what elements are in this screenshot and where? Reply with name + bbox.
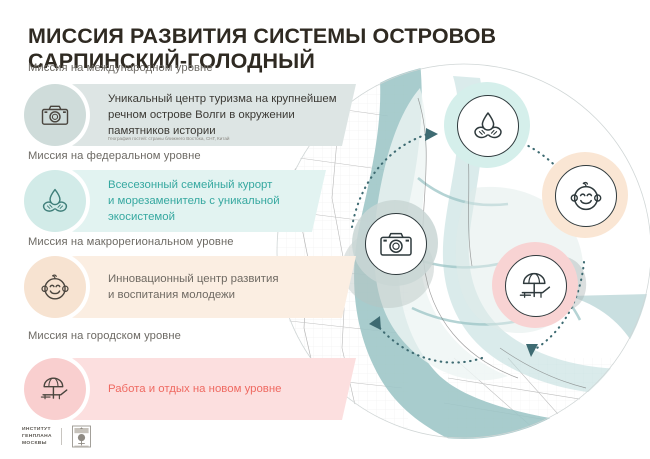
camera-icon	[40, 102, 70, 128]
mission-card-leisure-icon-badge	[24, 358, 86, 420]
node-youth-ring[interactable]	[555, 165, 617, 227]
mission-card-tourism-icon-badge	[24, 84, 86, 146]
mission-card-resort[interactable]: Всесезонный семейный курорт и морезамени…	[24, 170, 354, 232]
mission-card-resort-icon-badge	[24, 170, 86, 232]
water-drop-hands-icon	[471, 109, 505, 143]
institute-logo-line2: Генплана	[22, 433, 52, 440]
mission-card-youth-line-2: и воспитания молодежи	[108, 287, 348, 303]
mission-card-resort-line-1: Всесезонный семейный курорт	[108, 177, 348, 193]
level-label-federal: Миссия на федеральном уровне	[28, 150, 201, 162]
page-title-line1: Миссия развития системы островов	[28, 24, 496, 48]
mission-card-resort-line-2: и морезаменитель с уникальной	[108, 193, 348, 209]
camera-icon	[378, 229, 414, 259]
mission-card-resort-text: Всесезонный семейный курорт и морезамени…	[108, 170, 348, 232]
node-tourism[interactable]	[352, 200, 438, 286]
node-youth[interactable]	[542, 152, 628, 238]
level-label-city: Миссия на городском уровне	[28, 330, 181, 342]
node-resort[interactable]	[444, 82, 530, 168]
level-label-international: Миссия на международном уровне	[28, 62, 213, 74]
water-drop-hands-icon	[40, 186, 70, 216]
baby-face-icon	[39, 272, 71, 302]
baby-face-icon	[568, 179, 604, 213]
node-resort-ring[interactable]	[457, 95, 519, 157]
mission-card-youth-text: Инновационный центр развития и воспитани…	[108, 256, 348, 318]
footer-logo: Институт Генплана Москвы	[22, 424, 92, 449]
mission-card-youth-icon-badge	[24, 256, 86, 318]
mission-card-tourism-line-2: речном острове Волги в окружении	[108, 107, 348, 123]
mission-card-tourism-line-1: Уникальный центр туризма на крупнейшем	[108, 91, 348, 107]
node-tourism-ring[interactable]	[365, 213, 427, 275]
institute-logo-line3: Москвы	[22, 440, 52, 447]
mission-card-leisure-line-1: Работа и отдых на новом уровне	[108, 381, 348, 397]
institute-logo-text: Институт Генплана Москвы	[22, 426, 52, 448]
node-leisure[interactable]	[492, 242, 578, 328]
infographic-root: Миссия развития системы островов Сарпинс…	[0, 0, 650, 459]
mission-card-youth[interactable]: Инновационный центр развития и воспитани…	[24, 256, 354, 318]
institute-logo-line1: Институт	[22, 426, 52, 433]
moscow-emblem	[71, 424, 92, 449]
mission-card-tourism-caption: География гостей: страны ближнего Восток…	[108, 136, 229, 141]
level-label-macroregional: Миссия на макрорегиональном уровне	[28, 236, 234, 248]
node-leisure-ring[interactable]	[505, 255, 567, 317]
beach-umbrella-lounger-icon	[39, 375, 71, 403]
mission-card-youth-line-1: Инновационный центр развития	[108, 271, 348, 287]
mission-card-leisure[interactable]: Работа и отдых на новом уровне	[24, 358, 354, 420]
beach-umbrella-lounger-icon	[518, 270, 554, 302]
mission-card-leisure-text: Работа и отдых на новом уровне	[108, 358, 348, 420]
mission-card-resort-line-3: экосистемой	[108, 209, 348, 225]
logo-divider	[61, 428, 62, 445]
